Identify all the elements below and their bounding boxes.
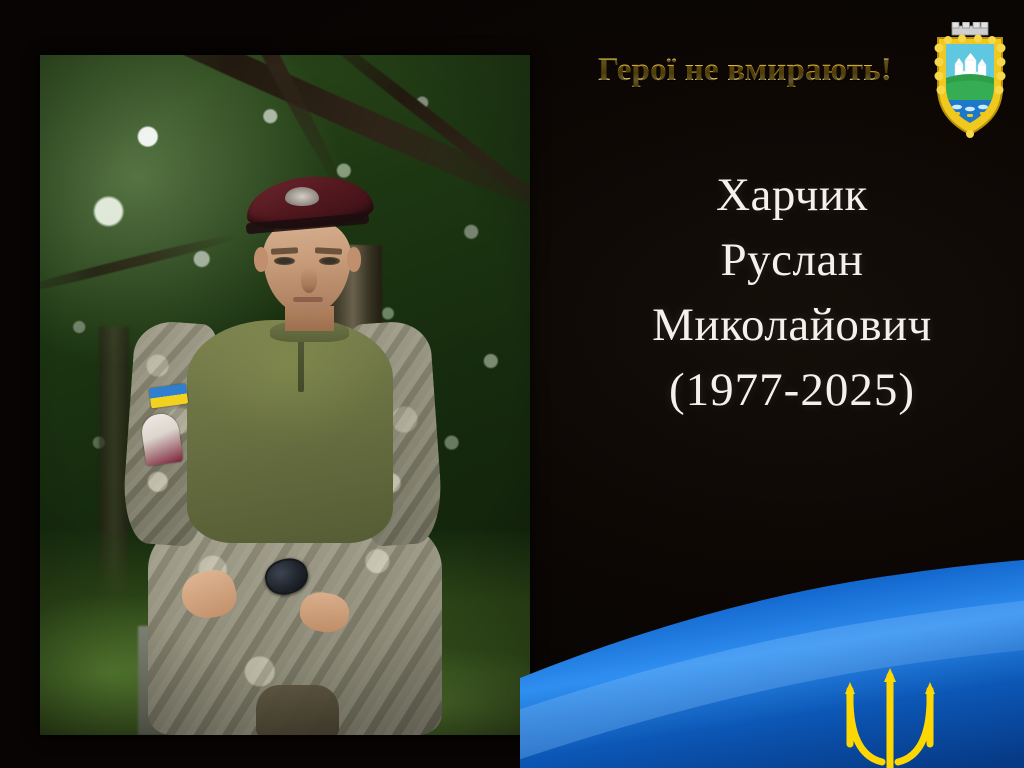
memorial-name-block: Харчик Руслан Миколайович (1977-2025) <box>560 163 1024 423</box>
beret-badge-icon <box>285 187 319 206</box>
soldier-figure <box>40 177 530 735</box>
mouth <box>293 297 323 302</box>
olive-combat-shirt <box>187 320 393 543</box>
eyebrow-right <box>315 247 343 254</box>
soldier-photo <box>40 55 530 735</box>
memorial-poster: Герої не вмирають! <box>0 0 1024 768</box>
ear-left <box>254 247 269 272</box>
eyebrow-left <box>271 247 299 254</box>
header-slogan-container: Герої не вмирають! <box>560 52 930 89</box>
ear-right <box>347 247 362 272</box>
life-years: (1977-2025) <box>560 358 1024 423</box>
heroes-never-die-slogan: Герої не вмирають! <box>598 52 892 88</box>
coat-of-arms-icon <box>928 22 1012 142</box>
photo-inner <box>40 55 530 735</box>
given-name: Руслан <box>560 228 1024 293</box>
patronymic: Миколайович <box>560 293 1024 358</box>
boot <box>256 685 339 735</box>
surname: Харчик <box>560 163 1024 228</box>
